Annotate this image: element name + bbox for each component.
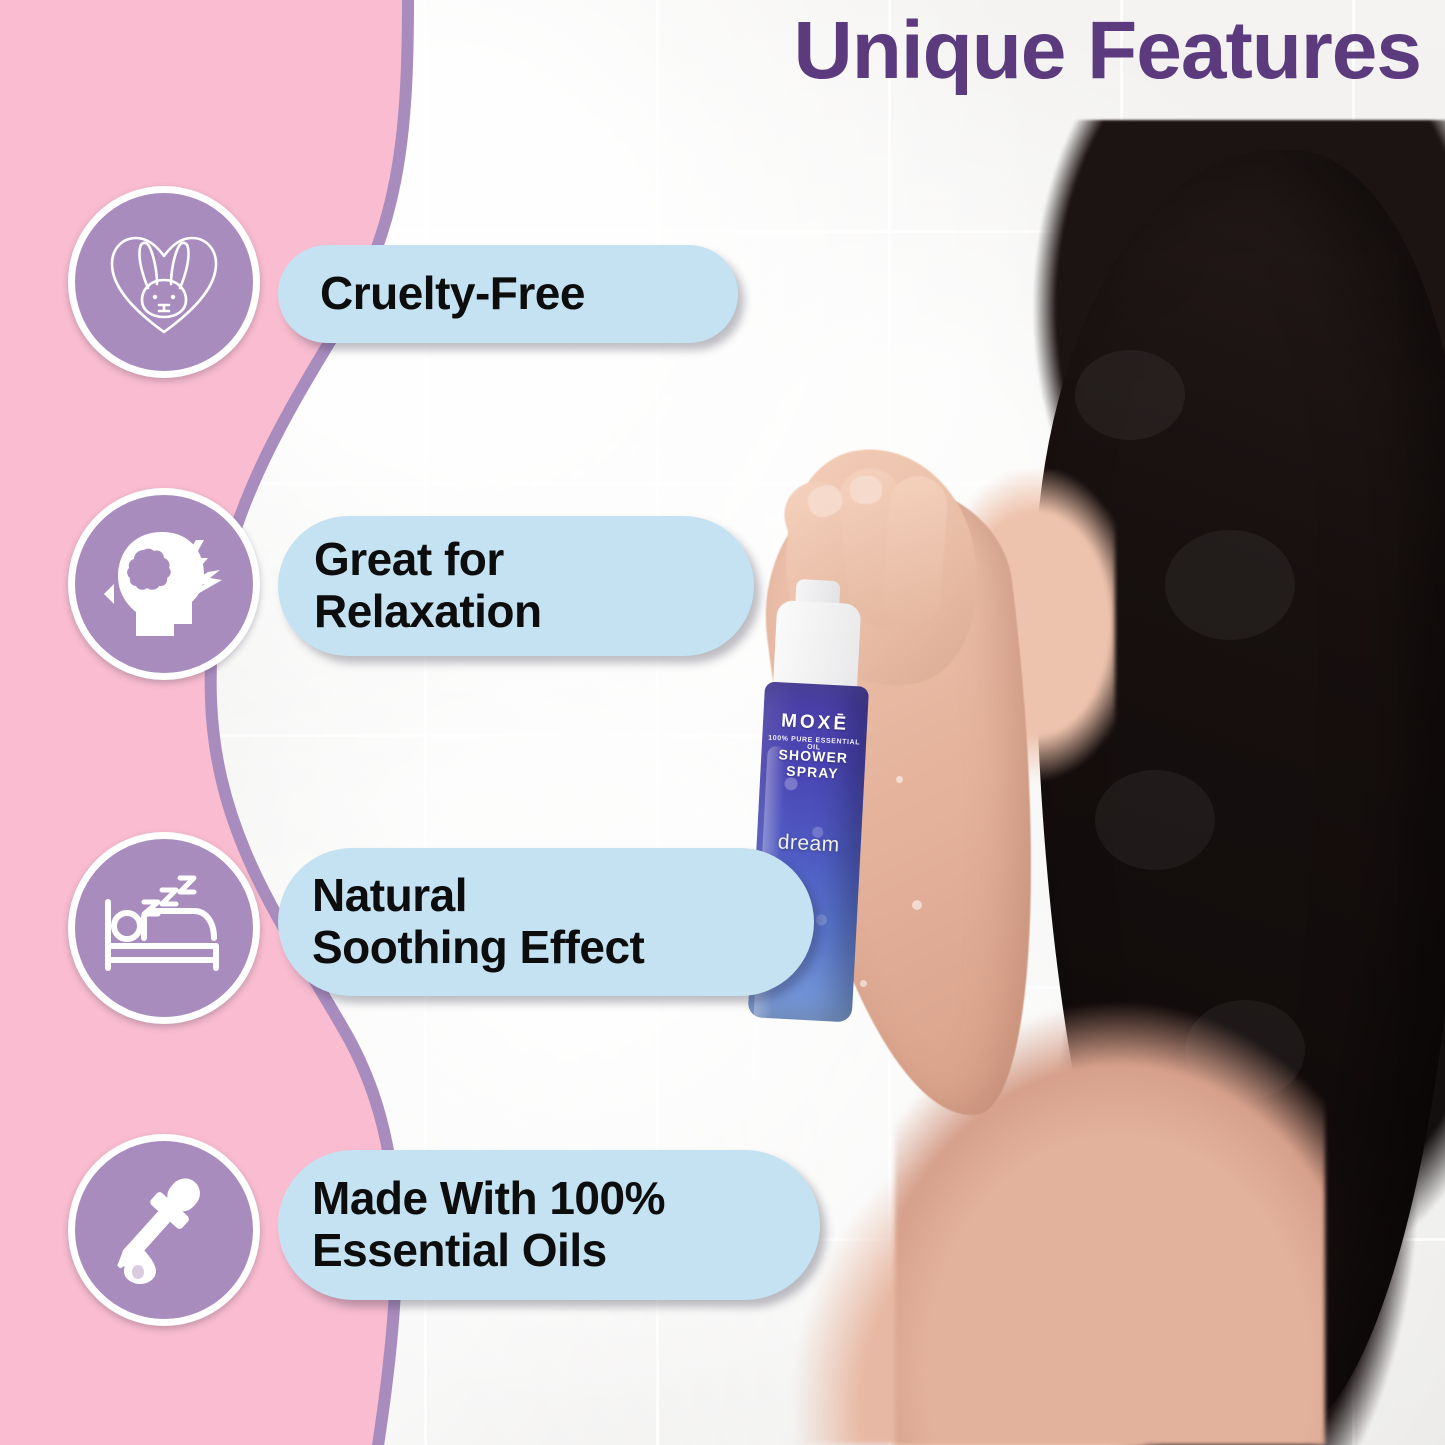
feature-row-cruelty-free: Cruelty-Free [278, 245, 738, 343]
bunny-heart-glyph [104, 222, 224, 342]
feature-row-soothing: Natural Soothing Effect [278, 848, 814, 996]
feature-row-essential-oils: Made With 100% Essential Oils [278, 1150, 820, 1300]
feature-badge-essential-oils[interactable]: Made With 100% Essential Oils [278, 1150, 820, 1300]
bottle-product-type: SHOWER SPRAY [760, 745, 866, 782]
finger [881, 474, 949, 628]
head-brain-glyph [100, 524, 228, 644]
feature-badge-relaxation[interactable]: Great for Relaxation [278, 516, 754, 656]
feature-label: Natural Soothing Effect [312, 870, 644, 973]
dropper-oil-icon [68, 1134, 260, 1326]
feature-badge-soothing[interactable]: Natural Soothing Effect [278, 848, 814, 996]
feature-label: Great for Relaxation [314, 534, 542, 637]
feature-label: Cruelty-Free [320, 268, 585, 320]
dropper-glyph [104, 1168, 224, 1292]
page-title: Unique Features [794, 8, 1421, 94]
feature-label: Made With 100% Essential Oils [312, 1173, 665, 1276]
head-brain-lightning-icon [68, 488, 260, 680]
feature-badge-cruelty-free[interactable]: Cruelty-Free [278, 245, 738, 343]
bunny-in-heart-icon [68, 186, 260, 378]
fingernail [850, 476, 882, 504]
feature-row-relaxation: Great for Relaxation [278, 516, 754, 656]
infographic-canvas: MOXĒ 100% PURE ESSENTIAL OIL SHOWER SPRA… [0, 0, 1445, 1445]
bed-zzz-glyph [98, 868, 230, 988]
sleeping-bed-zzz-icon [68, 832, 260, 1024]
